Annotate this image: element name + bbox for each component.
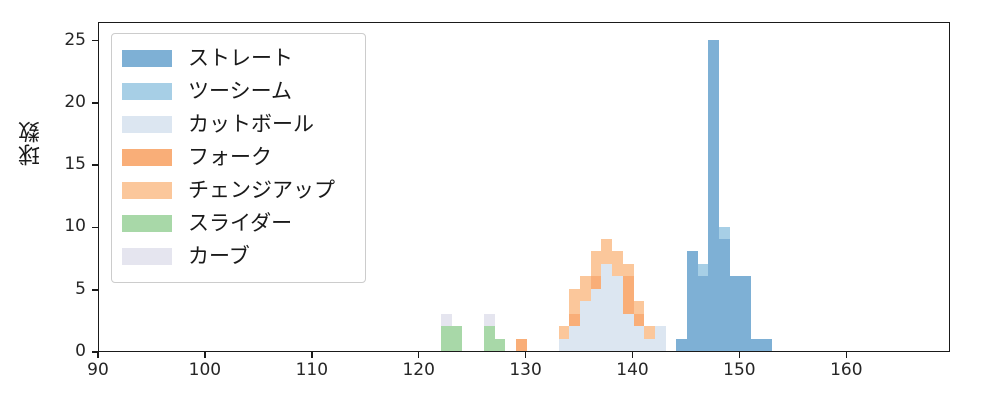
histogram-bar [644, 326, 655, 338]
x-tick-label: 150 [709, 360, 769, 380]
histogram-bar [601, 239, 612, 264]
x-tick-mark [97, 352, 99, 358]
histogram-bar [559, 339, 570, 351]
x-tick-label: 130 [496, 360, 556, 380]
histogram-bar [751, 339, 762, 351]
histogram-bar [441, 326, 452, 351]
x-tick-mark [204, 352, 206, 358]
x-tick-label: 120 [389, 360, 449, 380]
histogram-figure: 球数 0510152025 90100110120130140150160 スト… [0, 0, 1000, 400]
x-tick-mark [632, 352, 634, 358]
histogram-bar [740, 276, 751, 351]
histogram-bar [762, 339, 773, 351]
x-tick-mark [418, 352, 420, 358]
legend-item[interactable]: カットボール [122, 108, 355, 141]
legend-item[interactable]: ツーシーム [122, 75, 355, 108]
histogram-bar [634, 326, 645, 351]
legend-swatch-icon [122, 50, 172, 67]
histogram-bar [708, 40, 719, 351]
y-axis-label: 球数 [16, 120, 48, 166]
histogram-bar [698, 276, 709, 351]
legend-swatch-icon [122, 149, 172, 166]
x-tick-mark [739, 352, 741, 358]
histogram-bar [441, 314, 452, 326]
histogram-bar [730, 276, 741, 351]
y-tick-label: 20 [46, 92, 86, 112]
histogram-bar [623, 314, 634, 351]
histogram-bar [484, 314, 495, 326]
legend-item-label: ツーシーム [188, 81, 292, 102]
y-tick-label: 15 [46, 154, 86, 174]
legend-item[interactable]: ストレート [122, 42, 355, 75]
histogram-bar [580, 276, 591, 301]
legend-item-label: カットボール [188, 114, 314, 135]
histogram-bar [719, 227, 730, 239]
histogram-bar [644, 339, 655, 351]
y-tick-label: 25 [46, 30, 86, 50]
histogram-bar [634, 314, 645, 326]
histogram-bar [580, 301, 591, 351]
histogram-bar [495, 339, 506, 351]
histogram-bar [601, 264, 612, 351]
histogram-bar [655, 326, 666, 351]
histogram-bar [612, 276, 623, 351]
histogram-bar [634, 301, 645, 313]
x-tick-mark [311, 352, 313, 358]
legend-item[interactable]: チェンジアップ [122, 174, 355, 207]
histogram-bar [676, 339, 687, 351]
x-tick-label: 160 [816, 360, 876, 380]
legend-item[interactable]: フォーク [122, 141, 355, 174]
legend-swatch-icon [122, 248, 172, 265]
legend-item[interactable]: カーブ [122, 240, 355, 273]
x-tick-label: 140 [603, 360, 663, 380]
histogram-bar [516, 339, 527, 351]
legend-swatch-icon [122, 182, 172, 199]
x-tick-mark [846, 352, 848, 358]
legend-swatch-icon [122, 83, 172, 100]
histogram-bar [484, 326, 495, 351]
histogram-bar [452, 326, 463, 351]
histogram-bar [698, 264, 709, 276]
histogram-bar [569, 326, 580, 351]
legend-item[interactable]: スライダー [122, 207, 355, 240]
histogram-bar [623, 264, 634, 276]
histogram-bar [687, 251, 698, 351]
legend-swatch-icon [122, 215, 172, 232]
histogram-bar [569, 314, 580, 326]
legend-item-label: ストレート [188, 48, 293, 69]
x-tick-label: 90 [68, 360, 128, 380]
histogram-bar [591, 251, 602, 276]
legend-swatch-icon [122, 116, 172, 133]
y-tick-label: 10 [46, 216, 86, 236]
histogram-bar [559, 326, 570, 338]
legend-item-label: カーブ [188, 246, 250, 267]
histogram-bar [591, 289, 602, 351]
x-tick-label: 100 [175, 360, 235, 380]
histogram-bar [623, 276, 634, 313]
legend-item-label: スライダー [188, 213, 292, 234]
x-tick-mark [525, 352, 527, 358]
legend[interactable]: ストレートツーシームカットボールフォークチェンジアップスライダーカーブ [111, 33, 366, 283]
histogram-bar [591, 276, 602, 288]
histogram-bar [719, 239, 730, 351]
y-tick-label: 5 [46, 279, 86, 299]
histogram-bar [612, 251, 623, 276]
legend-item-label: チェンジアップ [188, 180, 335, 201]
x-tick-label: 110 [282, 360, 342, 380]
histogram-bar [569, 289, 580, 314]
y-tick-label: 0 [46, 341, 86, 361]
legend-item-label: フォーク [188, 147, 272, 168]
